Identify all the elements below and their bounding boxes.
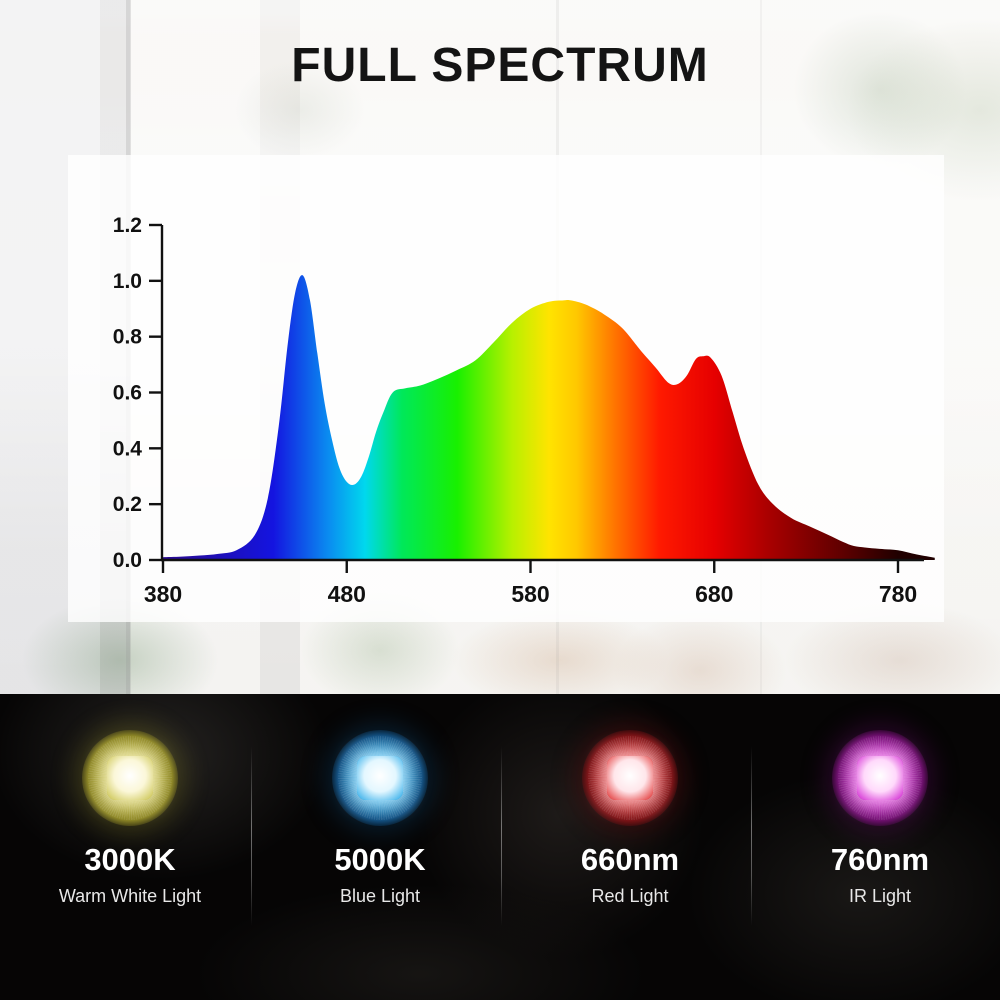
led-die-icon (857, 756, 903, 800)
page-title: FULL SPECTRUM (0, 38, 1000, 93)
spectrum-curve: 0.00.20.40.60.81.01.2380480580680780 (68, 155, 944, 622)
led-title: 660nm (505, 842, 755, 878)
led-die-icon (607, 756, 653, 800)
led-chip-blue (332, 730, 428, 826)
spectrum-chart-panel: 0.00.20.40.60.81.01.2380480580680780 (68, 155, 944, 622)
led-card-blue[interactable]: 5000K Blue Light (255, 694, 505, 1000)
y-axis-tick-label: 0.8 (113, 326, 143, 349)
y-axis-tick-label: 0.0 (113, 549, 142, 572)
led-divider (501, 746, 502, 926)
led-title: 3000K (5, 842, 255, 878)
led-subtitle: Red Light (505, 886, 755, 907)
x-axis-tick-label: 680 (695, 581, 733, 607)
y-axis-tick-label: 1.2 (113, 214, 142, 237)
y-axis-tick-label: 0.6 (113, 382, 142, 405)
y-axis-tick-label: 0.4 (113, 437, 143, 460)
led-subtitle: IR Light (755, 886, 1000, 907)
x-axis-tick-label: 780 (879, 581, 917, 607)
led-die-icon (107, 756, 153, 800)
led-chip-red (582, 730, 678, 826)
y-axis-tick-label: 0.2 (113, 493, 142, 516)
led-chip-warm-white (82, 730, 178, 826)
x-axis-tick-label: 480 (328, 581, 366, 607)
led-subtitle: Blue Light (255, 886, 505, 907)
y-axis-tick-label: 1.0 (113, 270, 142, 293)
spectrum-area (163, 275, 935, 560)
x-axis-tick-label: 580 (511, 581, 549, 607)
led-title: 760nm (755, 842, 1000, 878)
led-divider (251, 746, 252, 926)
led-card-ir[interactable]: 760nm IR Light (755, 694, 1000, 1000)
led-title: 5000K (255, 842, 505, 878)
spectrum-section: FULL SPECTRUM 0.00.20.40.60.81.01.238048… (0, 0, 1000, 694)
chart-plot-area: 0.00.20.40.60.81.01.2380480580680780 (68, 155, 944, 622)
led-subtitle: Warm White Light (5, 886, 255, 907)
led-divider (751, 746, 752, 926)
led-card-red[interactable]: 660nm Red Light (505, 694, 755, 1000)
led-die-icon (357, 756, 403, 800)
led-card-warm-white[interactable]: 3000K Warm White Light (5, 694, 255, 1000)
led-chip-ir (832, 730, 928, 826)
x-axis-tick-label: 380 (144, 581, 182, 607)
product-infographic: FULL SPECTRUM 0.00.20.40.60.81.01.238048… (0, 0, 1000, 1000)
led-types-section: 3000K Warm White Light 5000K Blue Light … (0, 694, 1000, 1000)
